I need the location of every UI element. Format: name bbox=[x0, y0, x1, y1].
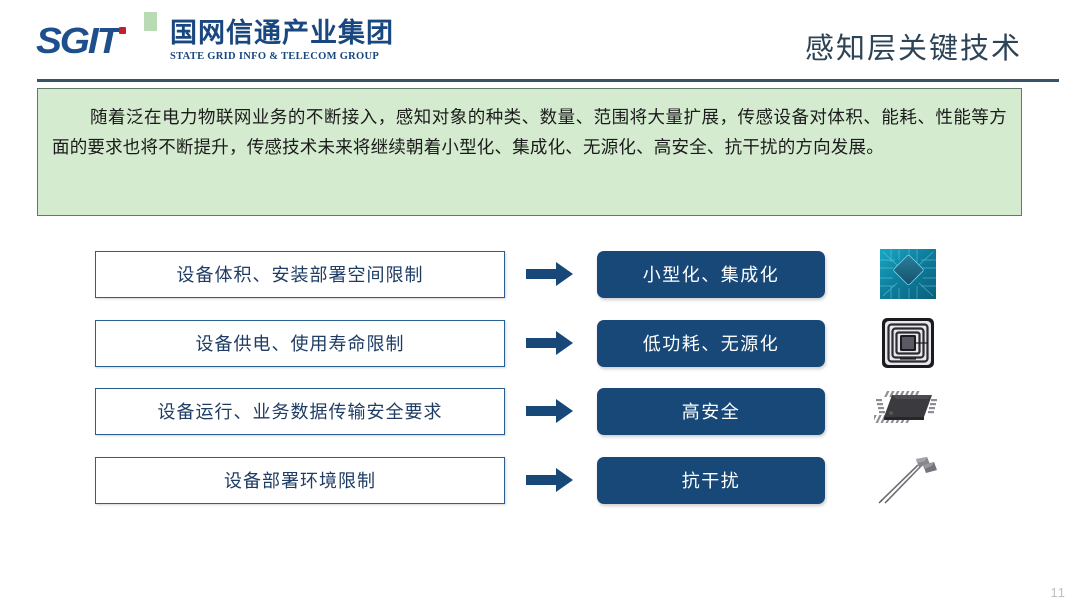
flow-row: 设备体积、安装部署空间限制 小型化、集成化 bbox=[0, 250, 1080, 298]
cause-label-0: 设备体积、安装部署空间限制 bbox=[177, 261, 424, 287]
slide-canvas: SGIT 国网信通产业集团 STATE GRID INFO & TELECOM … bbox=[0, 0, 1080, 608]
summary-paragraph: 随着泛在电力物联网业务的不断接入，感知对象的种类、数量、范围将大量扩展，传感设备… bbox=[52, 103, 1007, 163]
summary-callout-box: 随着泛在电力物联网业务的不断接入，感知对象的种类、数量、范围将大量扩展，传感设备… bbox=[37, 88, 1022, 216]
cause-label-2: 设备运行、业务数据传输安全要求 bbox=[158, 398, 443, 424]
effect-label-2: 高安全 bbox=[682, 398, 741, 424]
effect-box-1[interactable]: 低功耗、无源化 bbox=[597, 320, 825, 367]
effect-label-0: 小型化、集成化 bbox=[643, 261, 780, 287]
effect-box-2[interactable]: 高安全 bbox=[597, 388, 825, 435]
effect-box-0[interactable]: 小型化、集成化 bbox=[597, 251, 825, 298]
right-arrow-icon-0 bbox=[526, 259, 574, 289]
effect-box-3[interactable]: 抗干扰 bbox=[597, 457, 825, 504]
header-divider bbox=[37, 79, 1059, 82]
right-arrow-icon-2 bbox=[526, 396, 574, 426]
cause-box-0[interactable]: 设备体积、安装部署空间限制 bbox=[95, 251, 505, 298]
page-title: 感知层关键技术 bbox=[805, 25, 1022, 67]
brand-logo: SGIT 国网信通产业集团 STATE GRID INFO & TELECOM … bbox=[36, 18, 394, 63]
company-name-cn: 国网信通产业集团 bbox=[170, 19, 394, 49]
sgit-wordmark: SGIT bbox=[36, 22, 118, 60]
right-arrow-icon-3 bbox=[526, 465, 574, 495]
flow-row: 设备供电、使用寿命限制 低功耗、无源化 bbox=[0, 319, 1080, 367]
flow-row: 设备部署环境限制 抗干扰 bbox=[0, 456, 1080, 504]
logo-green-accent-icon bbox=[144, 12, 157, 31]
page-number: 11 bbox=[1051, 585, 1067, 600]
right-arrow-icon-1 bbox=[526, 328, 574, 358]
sgit-logo-mark: SGIT bbox=[36, 18, 158, 62]
cause-box-2[interactable]: 设备运行、业务数据传输安全要求 bbox=[95, 388, 505, 435]
slide-header: SGIT 国网信通产业集团 STATE GRID INFO & TELECOM … bbox=[0, 0, 1080, 80]
cause-label-1: 设备供电、使用寿命限制 bbox=[196, 330, 405, 356]
effect-label-1: 低功耗、无源化 bbox=[643, 330, 780, 356]
rfid-tag-photo bbox=[872, 313, 944, 373]
qfp-microchip-photo bbox=[872, 381, 944, 441]
company-name-en: STATE GRID INFO & TELECOM GROUP bbox=[170, 50, 394, 63]
flow-row: 设备运行、业务数据传输安全要求 高安全 bbox=[0, 387, 1080, 435]
cause-label-3: 设备部署环境限制 bbox=[224, 467, 376, 493]
logo-red-dot-icon bbox=[119, 27, 126, 34]
cause-box-3[interactable]: 设备部署环境限制 bbox=[95, 457, 505, 504]
integrated-circuit-chip-photo bbox=[872, 244, 944, 304]
cause-box-1[interactable]: 设备供电、使用寿命限制 bbox=[95, 320, 505, 367]
brand-name-block: 国网信通产业集团 STATE GRID INFO & TELECOM GROUP bbox=[170, 18, 394, 63]
effect-label-3: 抗干扰 bbox=[682, 467, 741, 493]
sensor-probe-photo bbox=[872, 450, 944, 510]
